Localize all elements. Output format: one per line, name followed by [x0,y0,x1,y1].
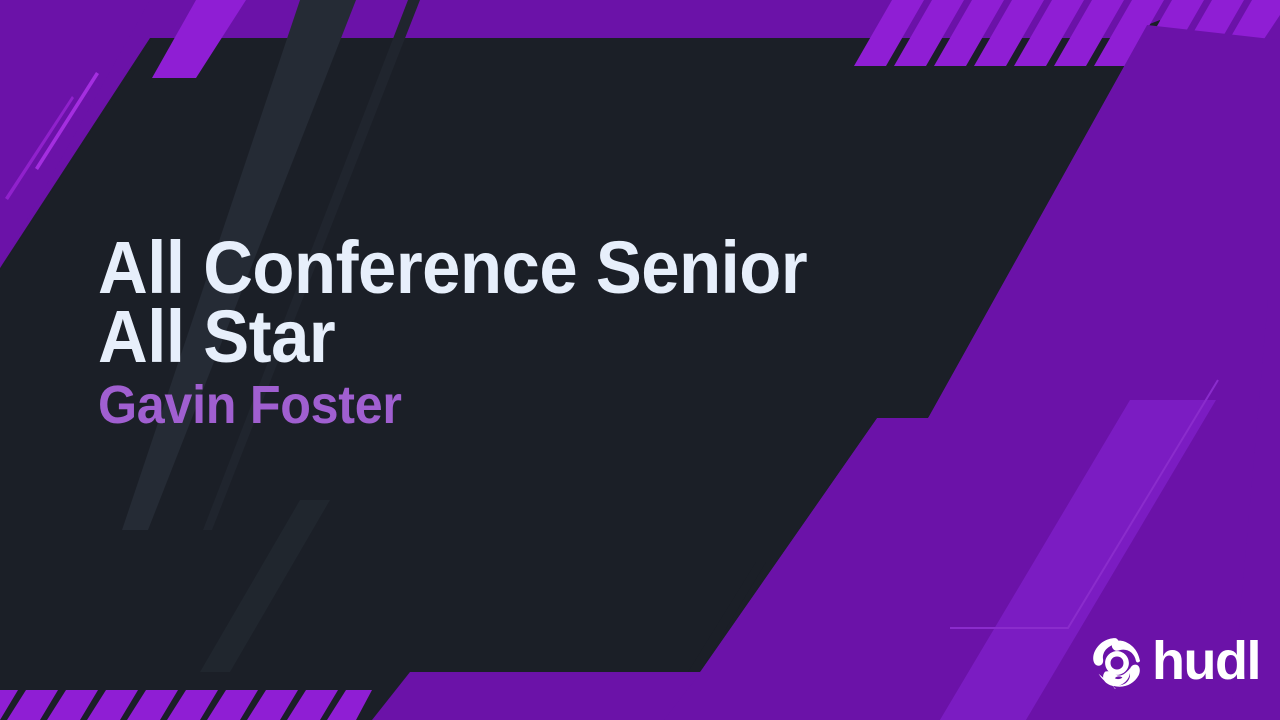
page-title: All Conference Senior All Star [98,234,842,372]
athlete-name: Gavin Foster [98,378,842,432]
text-block: All Conference Senior All Star Gavin Fos… [98,234,898,432]
graphic-canvas: All Conference Senior All Star Gavin Fos… [0,0,1280,720]
hudl-wordmark: hudl [1152,634,1260,688]
hudl-logo: hudl [1090,636,1260,690]
hudl-logo-mark [1090,636,1144,690]
